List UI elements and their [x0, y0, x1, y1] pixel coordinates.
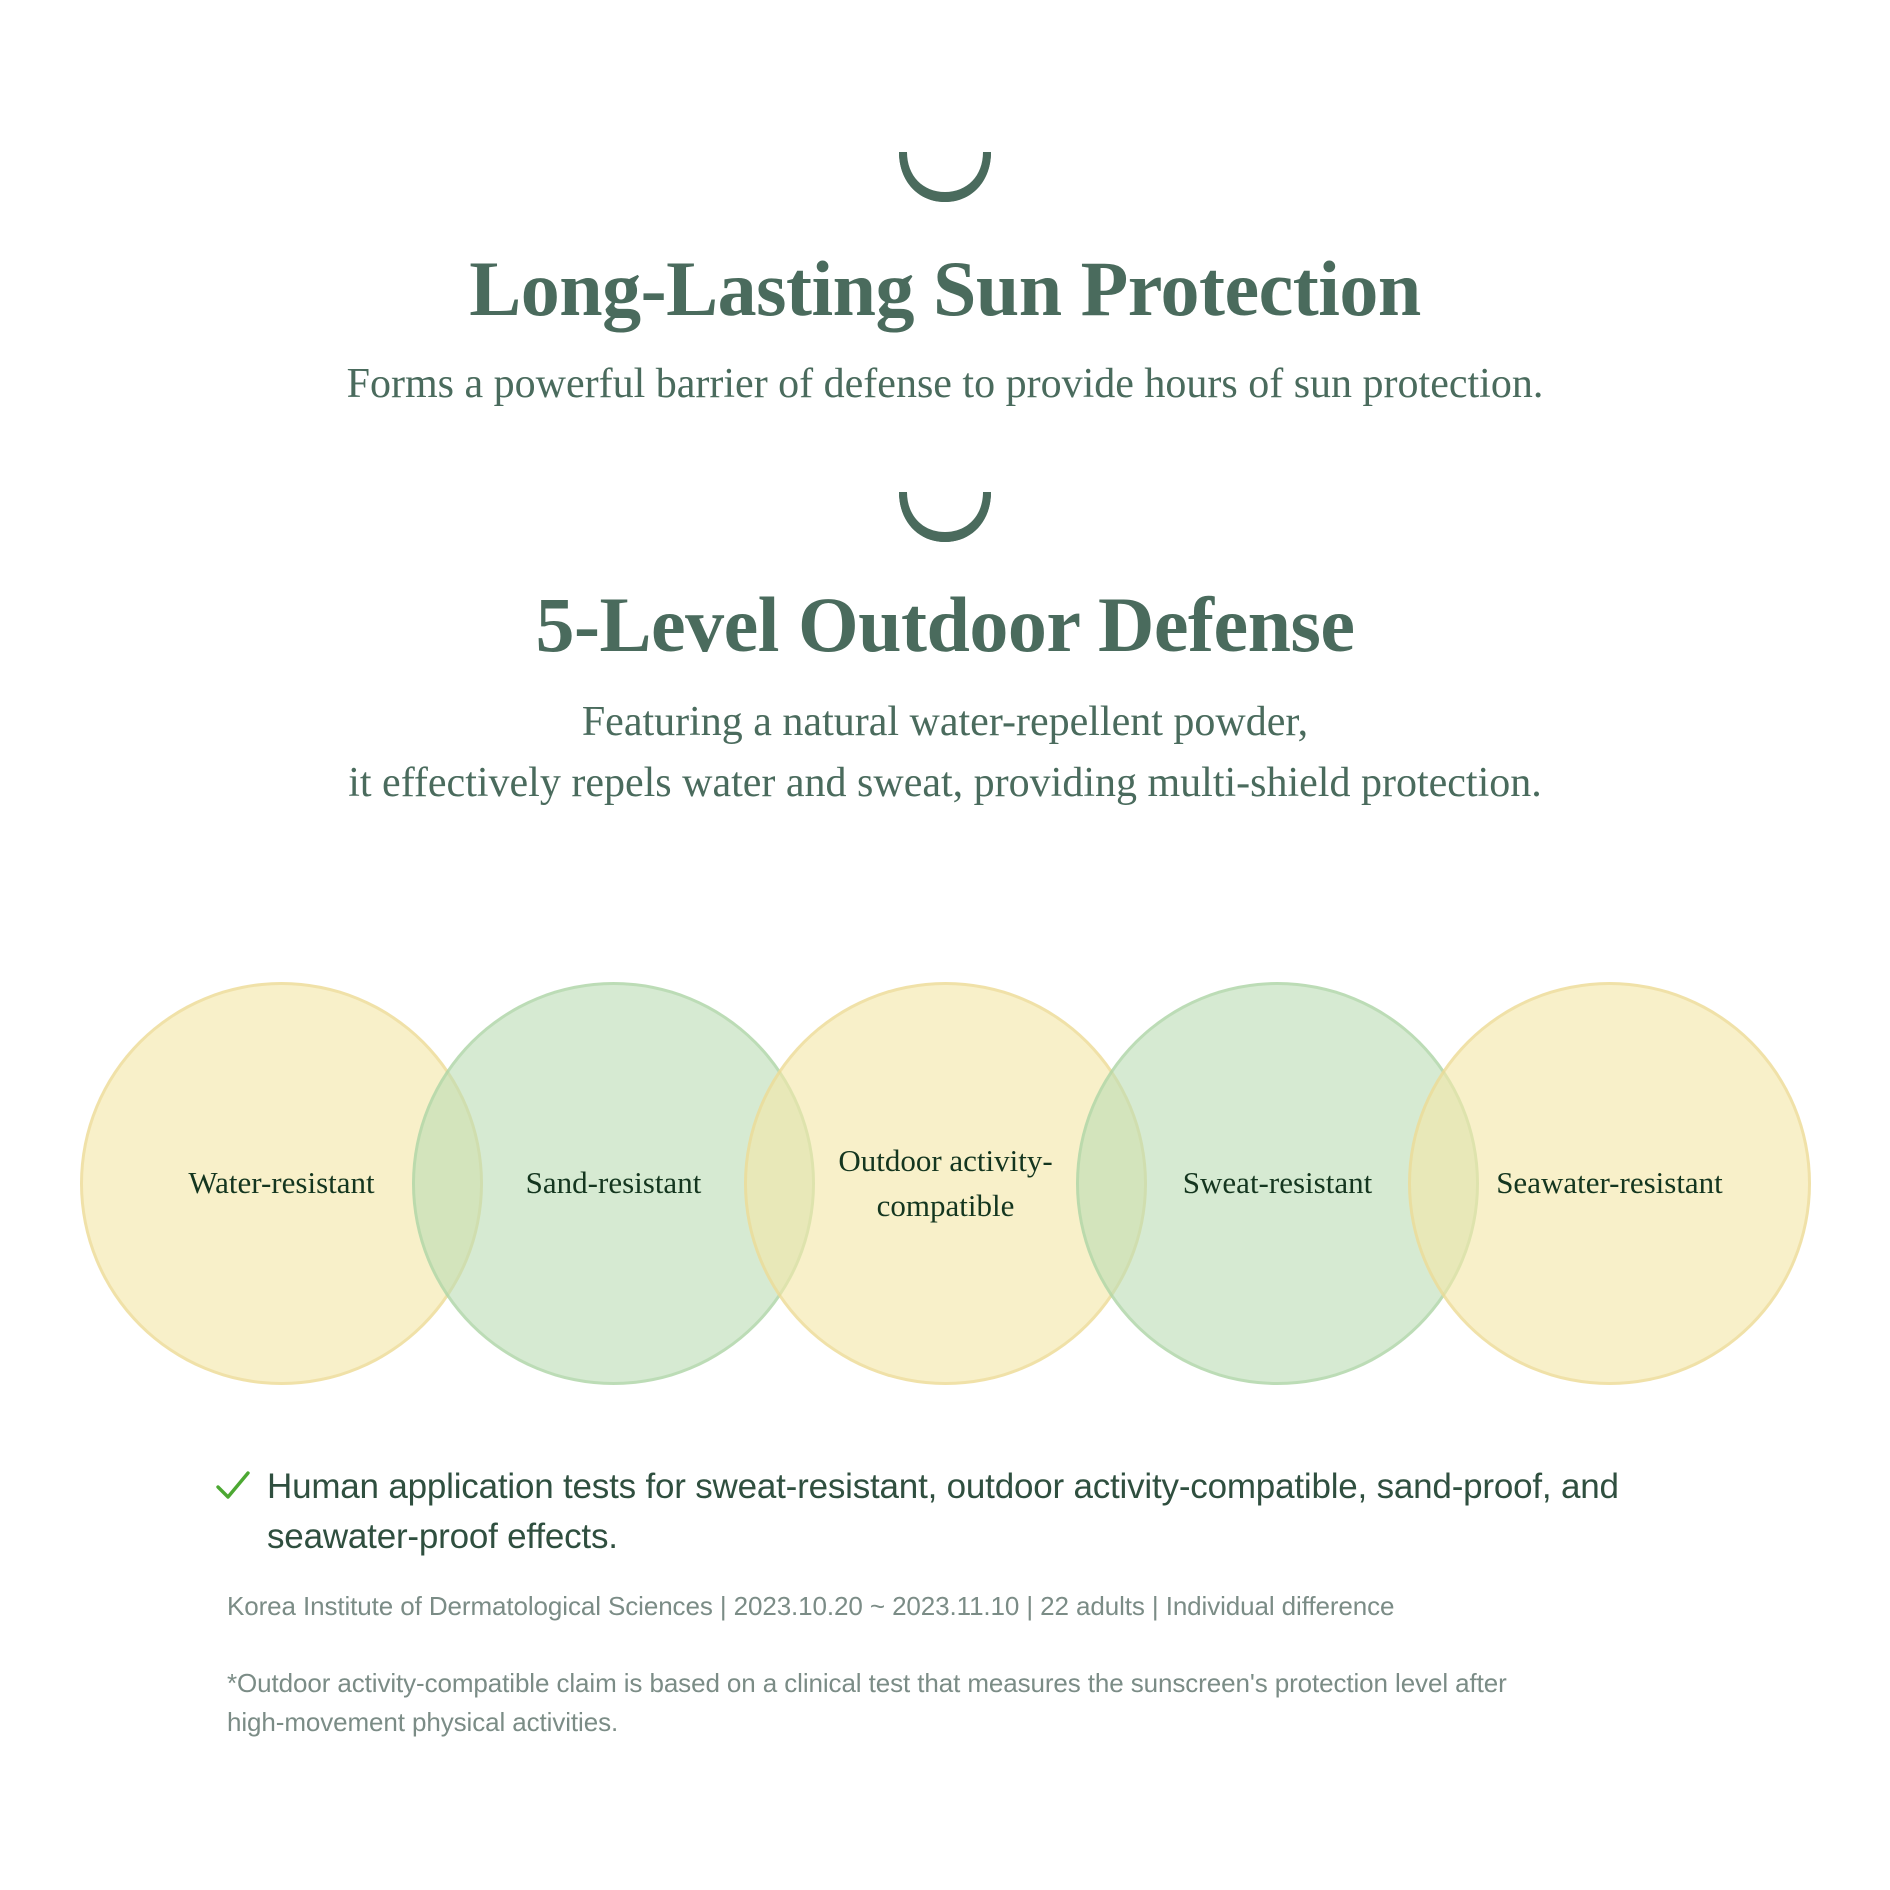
venn-circle-label: Sweat-resistant	[1148, 1161, 1408, 1205]
page-title-1: Long-Lasting Sun Protection	[0, 248, 1890, 330]
venn-circle-label: Outdoor activity-compatible	[816, 1139, 1076, 1227]
footnotes-block: Human application tests for sweat-resist…	[215, 1462, 1665, 1742]
disclaimer-text: *Outdoor activity-compatible claim is ba…	[227, 1664, 1557, 1742]
source-text: Korea Institute of Dermatological Scienc…	[227, 1587, 1527, 1626]
page-subtitle-2-line-2: it effectively repels water and sweat, p…	[0, 753, 1890, 814]
claim-row: Human application tests for sweat-resist…	[215, 1462, 1665, 1561]
section-long-lasting-sun-protection: Long-Lasting Sun Protection Forms a powe…	[0, 152, 1890, 410]
sun-protection-infographic: Long-Lasting Sun Protection Forms a powe…	[0, 0, 1890, 1890]
page-title-2: 5-Level Outdoor Defense	[0, 584, 1890, 666]
venn-circle-seawater-resistant: Seawater-resistant	[1408, 982, 1811, 1385]
venn-diagram: Water-resistant Sand-resistant Outdoor a…	[0, 982, 1890, 1392]
claim-text: Human application tests for sweat-resist…	[267, 1462, 1665, 1561]
venn-circle-label: Sand-resistant	[484, 1161, 744, 1205]
crescent-moon-icon-wrap-2	[0, 492, 1890, 544]
section-5-level-outdoor-defense: 5-Level Outdoor Defense Featuring a natu…	[0, 492, 1890, 814]
page-subtitle-2: Featuring a natural water-repellent powd…	[0, 692, 1890, 814]
page-subtitle-1: Forms a powerful barrier of defense to p…	[0, 358, 1890, 411]
crescent-moon-icon	[897, 492, 993, 544]
crescent-moon-icon-wrap-1	[0, 152, 1890, 204]
venn-circle-label: Seawater-resistant	[1480, 1161, 1740, 1205]
check-icon	[215, 1470, 251, 1504]
venn-circle-label: Water-resistant	[152, 1161, 412, 1205]
crescent-moon-icon	[897, 152, 993, 204]
page-subtitle-2-line-1: Featuring a natural water-repellent powd…	[0, 692, 1890, 753]
